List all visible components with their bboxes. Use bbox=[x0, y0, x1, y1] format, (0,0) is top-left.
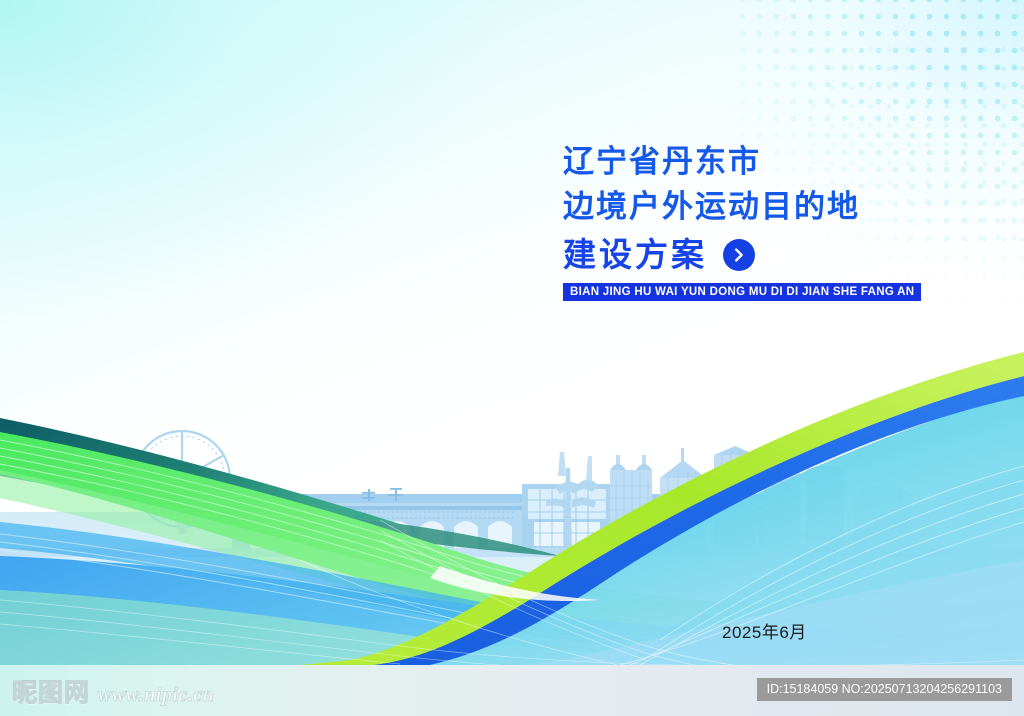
chevron-right-icon[interactable] bbox=[723, 239, 755, 271]
title-line-1: 辽宁省丹东市 bbox=[563, 142, 983, 182]
title-line-2: 边境户外运动目的地 bbox=[563, 187, 983, 227]
footer-bar: 昵图网 www.nipic.cn ID:15184059 NO:20250713… bbox=[0, 665, 1024, 716]
watermark: 昵图网 www.nipic.cn bbox=[12, 673, 214, 709]
title-line-3-row: 建设方案 bbox=[563, 236, 983, 274]
asset-id-chip: ID:15184059 NO:20250713204256291103 bbox=[757, 678, 1012, 701]
pinyin-subtitle-bar: BIAN JING HU WAI YUN DONG MU DI DI JIAN … bbox=[563, 283, 921, 301]
title-block: 辽宁省丹东市 边境户外运动目的地 建设方案 BIAN JING HU WAI Y… bbox=[563, 142, 983, 301]
watermark-url: www.nipic.cn bbox=[98, 684, 214, 707]
poster-artwork bbox=[0, 0, 1024, 716]
poster-canvas: 辽宁省丹东市 边境户外运动目的地 建设方案 BIAN JING HU WAI Y… bbox=[0, 0, 1024, 716]
watermark-brand: 昵图网 bbox=[12, 673, 90, 709]
date-label: 2025年6月 bbox=[722, 618, 807, 643]
title-line-3: 建设方案 bbox=[563, 236, 707, 274]
